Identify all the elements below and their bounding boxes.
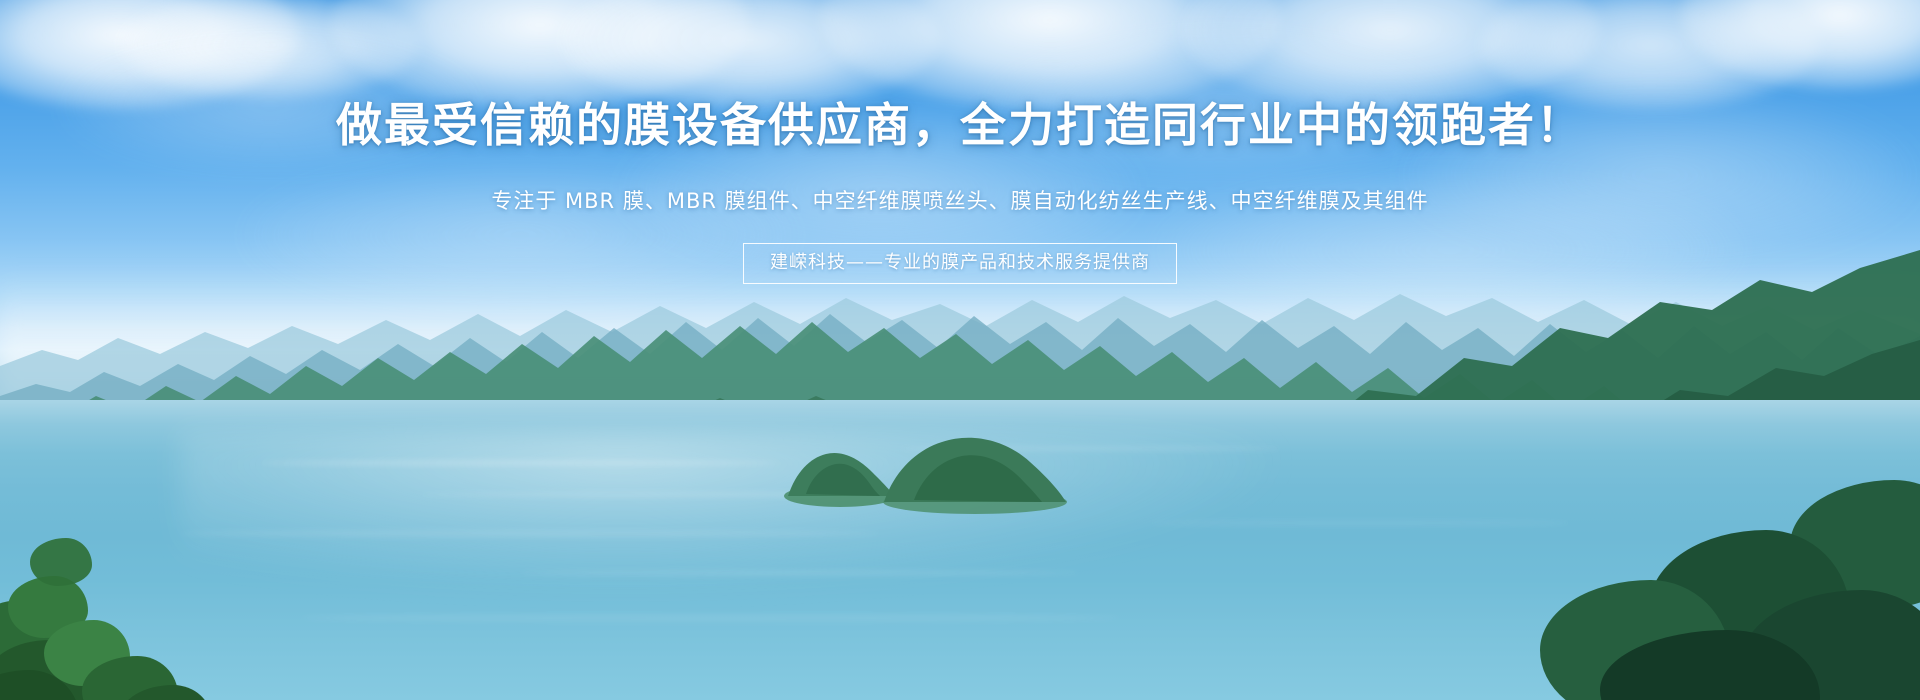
hero-banner: 做最受信赖的膜设备供应商，全力打造同行业中的领跑者！ 专注于 MBR 膜、MBR… <box>0 0 1920 700</box>
banner-tagline: 建嵘科技——专业的膜产品和技术服务提供商 <box>743 243 1177 284</box>
banner-tagline-wrap: 建嵘科技——专业的膜产品和技术服务提供商 <box>0 243 1920 284</box>
foliage-left <box>0 480 220 700</box>
banner-headline: 做最受信赖的膜设备供应商，全力打造同行业中的领跑者！ <box>0 96 1920 154</box>
banner-subheadline: 专注于 MBR 膜、MBR 膜组件、中空纤维膜喷丝头、膜自动化纺丝生产线、中空纤… <box>0 186 1920 216</box>
island-large <box>880 418 1070 514</box>
foliage-right <box>1520 420 1920 700</box>
